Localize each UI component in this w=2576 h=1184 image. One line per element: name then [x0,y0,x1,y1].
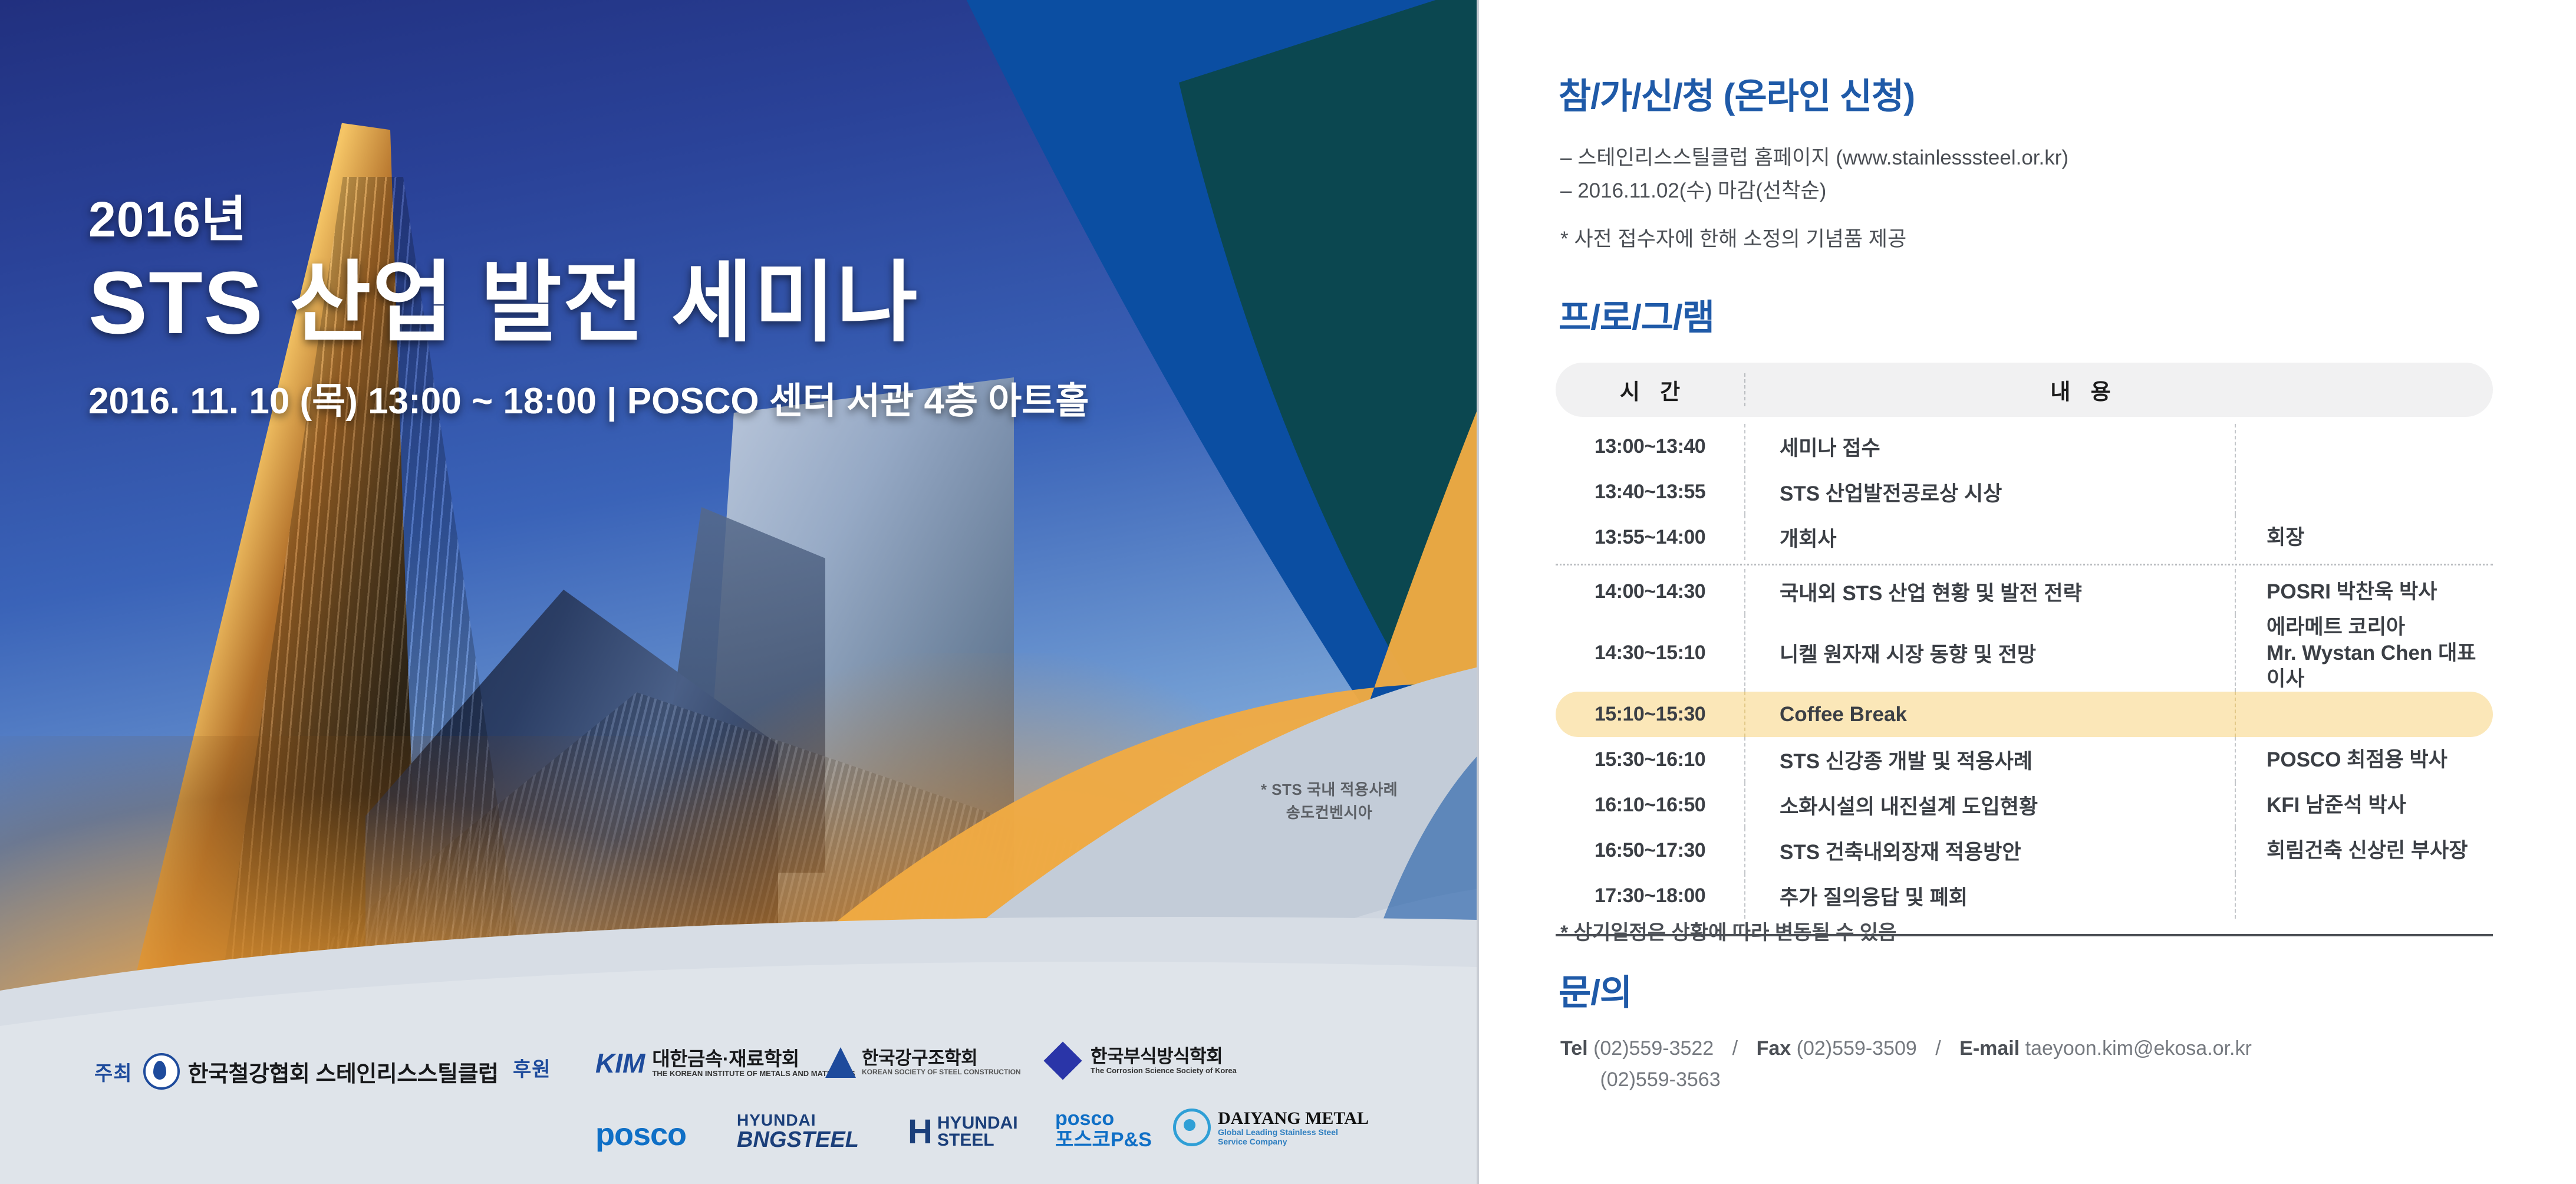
row-content: 개회사 [1745,522,2235,552]
row-time: 13:40~13:55 [1556,481,1744,504]
cssk-diamond-icon [1043,1042,1082,1080]
table-row: 16:10~16:50소화시설의 내진설계 도입현황KFI 남준석 박사 [1556,782,2493,828]
daiyang-target-icon [1173,1109,1211,1146]
program-footnote: * 상기일정은 상황에 따라 변동될 수 있음 [1560,916,1896,945]
apply-item-0: – 스테인리스스틸클럽 홈페이지 (www.stainlesssteel.or.… [1560,142,2068,175]
table-row: 13:00~13:40세미나 접수 [1556,424,2493,469]
program-table-body: 13:00~13:40세미나 접수13:40~13:55STS 산업발전공로상 … [1556,424,2493,919]
table-row: 16:50~17:30STS 건축내외장재 적용방안희림건축 신상린 부사장 [1556,828,2493,873]
hero-subtitle: 2016. 11. 10 (목) 13:00 ~ 18:00 | POSCO 센… [88,371,1385,424]
row-speaker-line: 회장 [2267,525,2493,551]
pns-top: posco [1055,1109,1152,1130]
company-posco[interactable]: posco [595,1116,686,1153]
tel-value: (02)559-3522 [1593,1037,1714,1060]
daiyang-name: DAIYANG METAL [1218,1109,1369,1128]
hero-year: 2016년 [88,195,1385,244]
table-row: 17:30~18:00추가 질의응답 및 폐회 [1556,873,2493,919]
host-label: 주최 [94,1057,133,1086]
cssk-name-en: The Corrosion Science Society of Korea [1091,1067,1237,1075]
row-time: 13:00~13:40 [1556,435,1744,458]
row-speaker-line: KFI 남준석 박사 [2267,792,2493,818]
program-heading: 프/로/그/램 [1559,289,1714,340]
company-daiyang-metal[interactable]: DAIYANG METAL Global Leading Stainless S… [1173,1109,1369,1146]
daiyang-tag1: Global Leading Stainless Steel [1218,1128,1369,1137]
row-divider-2 [2235,873,2236,919]
row-time: 14:00~14:30 [1556,580,1744,603]
photo-caption-line1: * STS 국내 적용사례 [1203,778,1456,801]
row-content: 국내외 STS 산업 현황 및 발전 전략 [1745,577,2235,607]
host-group: 주최 한국철강협회 스테인리스스틸클럽 [94,1053,499,1090]
table-row: 15:30~16:10STS 신강종 개발 및 적용사례POSCO 최점용 박사 [1556,737,2493,782]
hyundai-top: HYUNDAI [937,1115,1018,1132]
row-content: STS 건축내외장재 적용방안 [1745,836,2235,866]
company-bng-steel[interactable]: HYUNDAI BNGSTEEL [737,1112,859,1151]
hero-visual-panel: 2016년 STS 산업 발전 세미나 2016. 11. 10 (목) 13:… [0,0,1477,1184]
table-row: 14:00~14:30국내외 STS 산업 현황 및 발전 전략POSRI 박찬… [1556,569,2493,614]
kssc-triangle-icon [825,1047,856,1078]
kssc-name-ko: 한국강구조학회 [862,1049,1021,1068]
seminar-poster: 2016년 STS 산업 발전 세미나 2016. 11. 10 (목) 13:… [0,0,2576,1184]
hero-title-block: 2016년 STS 산업 발전 세미나 2016. 11. 10 (목) 13:… [88,195,1385,424]
contact-line-1: Tel (02)559-3522 / Fax (02)559-3509 / E-… [1560,1033,2252,1064]
row-content: 소화시설의 내진설계 도입현황 [1745,790,2235,820]
row-content: STS 신강종 개발 및 적용사례 [1745,745,2235,775]
kssc-name-en: KOREAN SOCIETY OF STEEL CONSTRUCTION [862,1068,1021,1076]
fax-label: Fax [1757,1037,1791,1060]
apply-item-1: – 2016.11.02(수) 마감(선착순) [1560,175,2068,208]
column-header-time: 시 간 [1556,374,1744,406]
program-table: 시 간 내 용 13:00~13:40세미나 접수13:40~13:55STS … [1556,363,2493,936]
column-header-content: 내 용 [1746,374,2493,406]
bng-bottom: BNGSTEEL [737,1129,859,1151]
supporter-cssk[interactable]: 한국부식방식학회 The Corrosion Science Society o… [1049,1047,1237,1074]
company-hyundai-steel[interactable]: H HYUNDAI STEEL [908,1112,1018,1152]
row-speaker: KFI 남준석 박사 [2236,792,2493,818]
table-row: 13:40~13:55STS 산업발전공로상 시상 [1556,469,2493,515]
apply-heading: 참/가/신/청 (온라인 신청) [1559,68,1915,119]
row-speaker-line: POSRI 박찬욱 박사 [2267,579,2493,605]
row-content: Coffee Break [1745,703,2235,726]
row-divider-2 [2235,469,2236,515]
row-divider-2 [2235,692,2236,737]
pns-bottom: 포스코P&S [1055,1130,1152,1151]
row-time: 15:30~16:10 [1556,748,1744,771]
email-label: E-mail [1959,1037,2020,1060]
row-content: STS 산업발전공로상 시상 [1745,477,2235,507]
fax-value: (02)559-3509 [1797,1037,1917,1060]
apply-bullets: – 스테인리스스틸클럽 홈페이지 (www.stainlesssteel.or.… [1560,142,2068,256]
row-speaker-line: 에라메트 코리아 [2267,614,2493,640]
row-speaker: 회장 [2236,525,2493,551]
hyundai-h-icon: H [908,1112,933,1152]
tel-value-2: (02)559-3563 [1600,1068,1720,1091]
info-panel: 참/가/신/청 (온라인 신청) – 스테인리스스틸클럽 홈페이지 (www.s… [1479,0,2576,1184]
row-speaker-line: 희림건축 신상린 부사장 [2267,838,2493,864]
apply-note: * 사전 접수자에 한해 소정의 기념품 제공 [1560,223,2068,256]
sep-1: / [1719,1037,1751,1060]
row-time: 16:50~17:30 [1556,839,1744,862]
kim-name-en: THE KOREAN INSTITUTE OF METALS AND MATER… [652,1070,855,1078]
row-speaker: 에라메트 코리아Mr. Wystan Chen 대표이사 [2236,614,2493,692]
email-value[interactable]: taeyoon.kim@ekosa.or.kr [2025,1037,2252,1060]
photo-caption-line2: 송도컨벤시아 [1203,801,1456,824]
row-time: 16:10~16:50 [1556,794,1744,817]
row-speaker: POSRI 박찬욱 박사 [2236,579,2493,605]
row-time: 14:30~15:10 [1556,642,1744,665]
contact-line-2: (02)559-3563 [1560,1064,2252,1096]
table-row: 14:30~15:10니켈 원자재 시장 동향 및 전망에라메트 코리아Mr. … [1556,614,2493,692]
cssk-name-ko: 한국부식방식학회 [1091,1047,1237,1067]
ksa-seal-icon [143,1053,180,1090]
posco-logo-text: posco [595,1116,686,1153]
row-content: 세미나 접수 [1745,432,2235,462]
kim-name-ko: 대한금속·재료학회 [652,1049,855,1070]
daiyang-tag2: Service Company [1218,1137,1369,1146]
row-time: 17:30~18:00 [1556,884,1744,907]
row-time: 13:55~14:00 [1556,526,1744,549]
contact-heading: 문/의 [1559,964,1632,1015]
sep-2: / [1922,1037,1954,1060]
bng-top: HYUNDAI [737,1112,859,1129]
contact-details: Tel (02)559-3522 / Fax (02)559-3509 / E-… [1560,1033,2252,1095]
row-content: 추가 질의응답 및 폐회 [1745,881,2235,911]
row-speaker: 희림건축 신상린 부사장 [2236,838,2493,864]
row-speaker-line: Mr. Wystan Chen 대표이사 [2267,640,2493,692]
table-row: 15:10~15:30Coffee Break [1556,692,2493,737]
support-label-group: 후원 [513,1053,562,1082]
geometric-overlay [0,0,1477,1184]
row-time: 15:10~15:30 [1556,703,1744,726]
hero-title: STS 산업 발전 세미나 [88,252,1385,353]
supporter-kssc[interactable]: 한국강구조학회 KOREAN SOCIETY OF STEEL CONSTRUC… [825,1047,1021,1078]
kim-mark: KIM [595,1047,645,1079]
program-table-header: 시 간 내 용 [1556,363,2493,417]
host-name: 한국철강협회 스테인리스스틸클럽 [188,1055,499,1088]
section-dash-divider [1556,564,2493,565]
company-posco-pns[interactable]: posco 포스코P&S [1055,1109,1152,1150]
photo-caption: * STS 국내 적용사례 송도컨벤시아 [1203,778,1456,824]
tel-label: Tel [1560,1037,1588,1060]
hyundai-bottom: STEEL [937,1132,1018,1149]
support-label: 후원 [513,1053,551,1082]
row-speaker: POSCO 최점용 박사 [2236,747,2493,773]
table-row: 13:55~14:00개회사회장 [1556,515,2493,560]
supporter-kim[interactable]: KIM 대한금속·재료학회 THE KOREAN INSTITUTE OF ME… [595,1047,855,1079]
row-speaker-line: POSCO 최점용 박사 [2267,747,2493,773]
row-content: 니켈 원자재 시장 동향 및 전망 [1745,638,2235,668]
row-divider-2 [2235,424,2236,469]
sponsor-strip: 주최 한국철강협회 스테인리스스틸클럽 후원 KIM 대한금속·재료학회 THE… [0,1007,1477,1184]
